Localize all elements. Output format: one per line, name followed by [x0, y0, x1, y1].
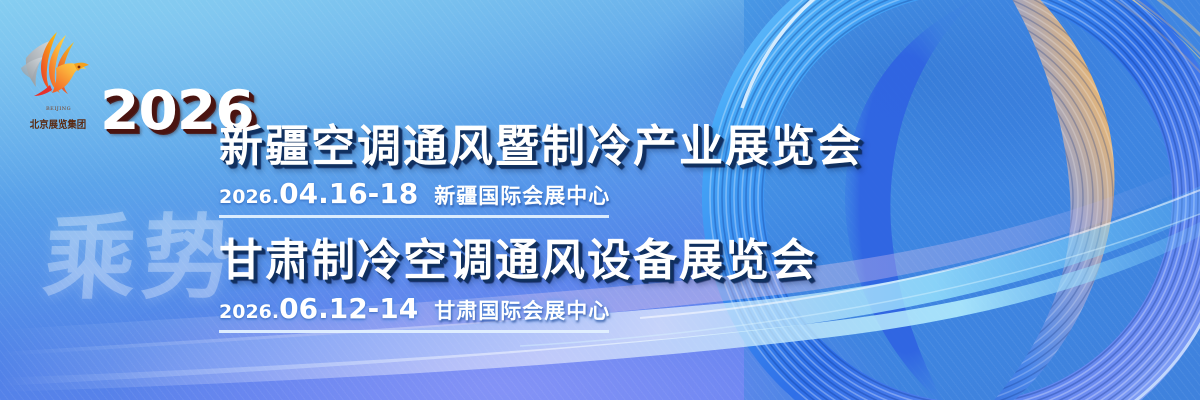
watermark-calligraphy: 乘势 [41, 212, 243, 304]
show-meta: 2026. 04.16-18 新疆国际会展中心 [219, 177, 609, 218]
show-date: 06.12-14 [279, 292, 418, 325]
show-entry-gansu: 甘肃制冷空调通风设备展览会 2026. 06.12-14 甘肃国际会展中心 [219, 236, 879, 332]
show-year: 2026. [219, 186, 279, 208]
show-venue: 甘肃国际会展中心 [434, 295, 610, 325]
show-meta: 2026. 06.12-14 甘肃国际会展中心 [219, 292, 609, 333]
brand-logo-block: BEIJING 北京展览集团 2026 [16, 24, 212, 128]
logo-company-name: 北京展览集团 [22, 116, 93, 131]
show-listings: 新疆空调通风暨制冷产业展览会 2026. 04.16-18 新疆国际会展中心 甘… [219, 122, 879, 339]
show-year: 2026. [219, 301, 279, 323]
show-date: 04.16-18 [279, 177, 418, 210]
phoenix-logo-icon [16, 24, 94, 102]
show-title: 甘肃制冷空调通风设备展览会 [219, 236, 879, 285]
exhibition-banner: 乘势 [0, 0, 1200, 400]
show-venue: 新疆国际会展中心 [434, 180, 610, 210]
show-entry-xinjiang: 新疆空调通风暨制冷产业展览会 2026. 04.16-18 新疆国际会展中心 [219, 122, 879, 218]
logo-pinyin: BEIJING [46, 106, 71, 112]
show-title: 新疆空调通风暨制冷产业展览会 [219, 122, 879, 171]
